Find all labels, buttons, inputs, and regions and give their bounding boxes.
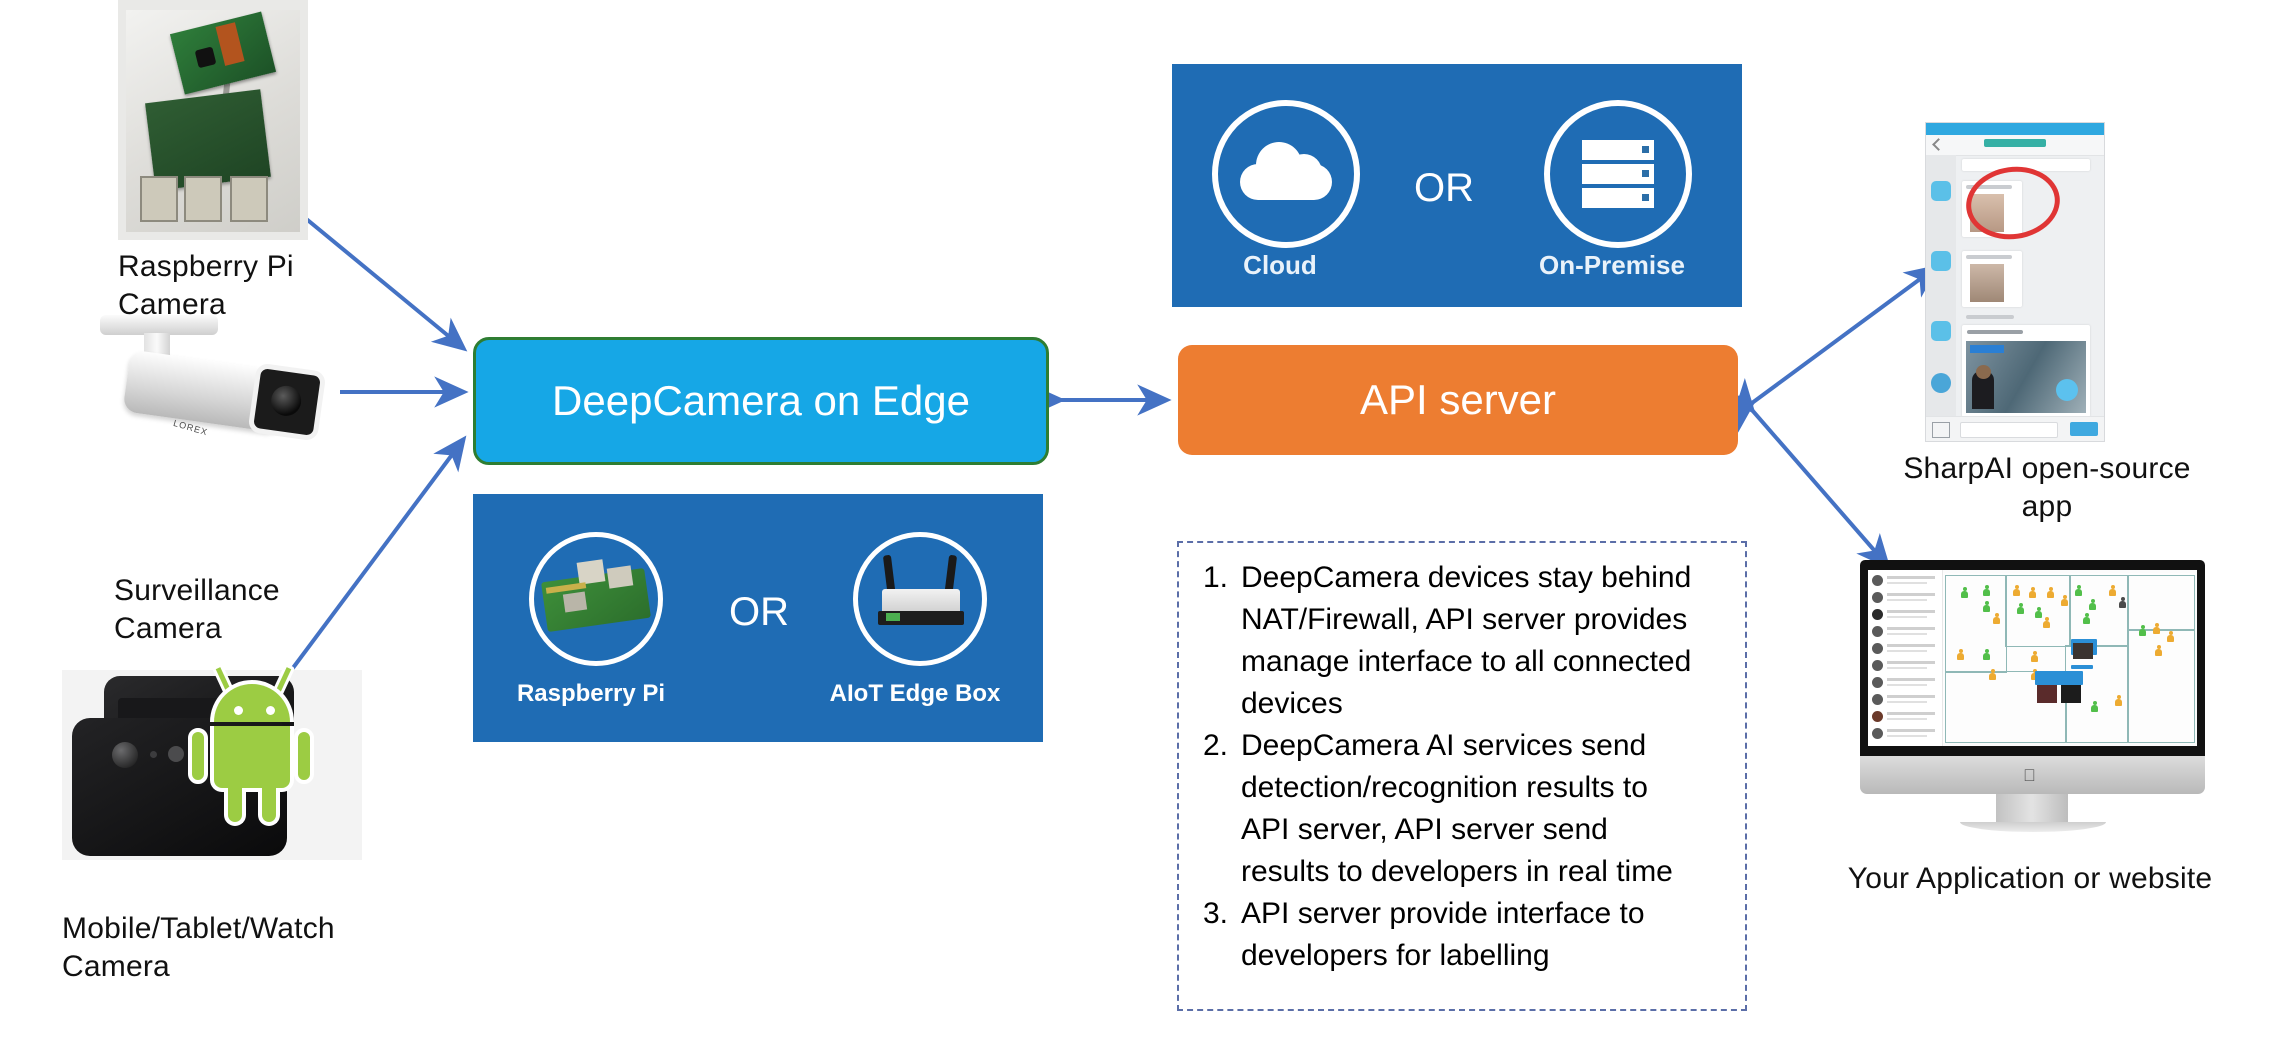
- arrow-api-to-app: [1752, 268, 1935, 403]
- edge-or-label: OR: [729, 590, 789, 635]
- caption-sharpai-app: SharpAI open-source app: [1882, 450, 2212, 525]
- note-number: 3.: [1179, 893, 1241, 935]
- edge-option-label-raspberry-pi: Raspberry Pi: [509, 680, 673, 708]
- note-item: 3. API server provide interface to devel…: [1179, 893, 1735, 977]
- input-label-line1: Surveillance: [114, 572, 374, 610]
- note-number: 1.: [1179, 557, 1241, 599]
- raspberry-pi-board-icon: [529, 532, 663, 666]
- input-label-surveillance: Surveillance Camera: [114, 572, 374, 647]
- apple-logo-icon: : [2023, 767, 2039, 785]
- caption-your-application: Your Application or website: [1830, 860, 2230, 898]
- note-item: 2. DeepCamera AI services send detection…: [1179, 725, 1735, 893]
- android-robot-icon: [192, 664, 312, 832]
- note-text: DeepCamera devices stay behind NAT/Firew…: [1241, 557, 1693, 725]
- input-label-line2: Camera: [114, 610, 374, 648]
- deployment-label-cloud: Cloud: [1208, 250, 1352, 281]
- aiot-edge-box-icon: [853, 532, 987, 666]
- edge-hardware-box: OR Raspberry Pi AIoT Edge Box: [473, 494, 1043, 742]
- edge-option-label-aiot-edge-box: AIoT Edge Box: [825, 680, 1005, 708]
- input-label-line2: Camera: [62, 948, 402, 986]
- deepcamera-on-edge-box[interactable]: DeepCamera on Edge: [473, 337, 1049, 465]
- deployment-or-label: OR: [1414, 166, 1474, 211]
- note-number: 2.: [1179, 725, 1241, 767]
- deployment-options-box: OR Cloud On-Premise: [1172, 64, 1742, 307]
- input-label-raspberry-pi: Raspberry Pi Camera: [118, 248, 348, 323]
- note-text: DeepCamera AI services send detection/re…: [1241, 725, 1693, 893]
- deepcamera-on-edge-title: DeepCamera on Edge: [552, 377, 970, 425]
- api-server-box[interactable]: API server: [1178, 345, 1738, 455]
- server-rack-icon: [1544, 100, 1692, 248]
- input-label-line1: Mobile/Tablet/Watch: [62, 910, 402, 948]
- note-item: 1. DeepCamera devices stay behind NAT/Fi…: [1179, 557, 1735, 725]
- cloud-icon: [1212, 100, 1360, 248]
- mobile-app-screenshot: [1925, 122, 2105, 442]
- input-label-line1: Raspberry Pi: [118, 248, 348, 286]
- deployment-label-on-premise: On-Premise: [1530, 250, 1694, 281]
- mobile-tablet-watch-photo: [62, 670, 362, 860]
- raspberry-pi-camera-photo: [118, 0, 308, 240]
- api-server-title: API server: [1360, 376, 1556, 424]
- arrow-mobile-to-edge: [278, 440, 463, 688]
- imac-dashboard-screenshot: : [1860, 560, 2205, 830]
- note-text: API server provide interface to develope…: [1241, 893, 1693, 977]
- input-label-mobile: Mobile/Tablet/Watch Camera: [62, 910, 402, 985]
- surveillance-camera-photo: LOREX: [100, 315, 330, 450]
- notes-panel: 1. DeepCamera devices stay behind NAT/Fi…: [1177, 541, 1747, 1011]
- arrow-api-to-website: [1752, 410, 1887, 565]
